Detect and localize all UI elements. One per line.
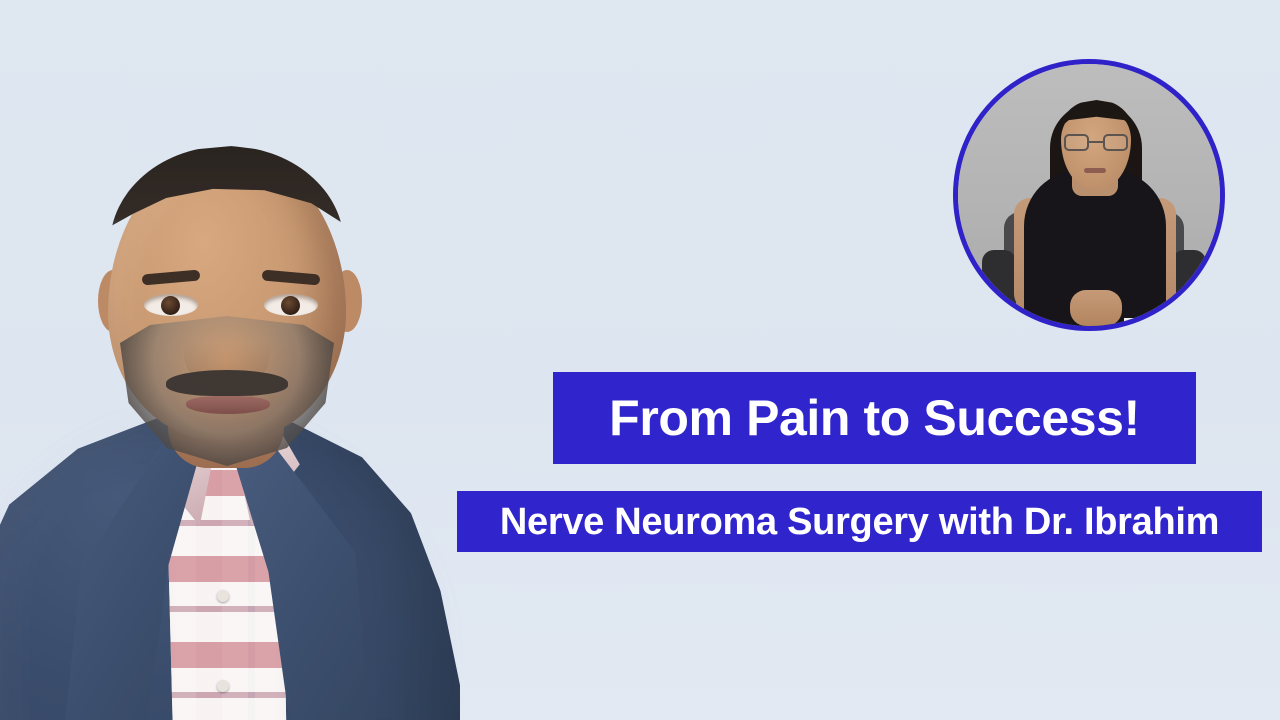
subtitle-text: Nerve Neuroma Surgery with Dr. Ibrahim	[500, 503, 1219, 541]
chair-armrest-right	[1172, 250, 1206, 331]
presenter-mouth	[186, 396, 270, 414]
title-text: From Pain to Success!	[609, 393, 1140, 443]
guest-hands	[1070, 290, 1122, 326]
subtitle-banner: Nerve Neuroma Surgery with Dr. Ibrahim	[457, 491, 1262, 552]
video-thumbnail: From Pain to Success! Nerve Neuroma Surg…	[0, 0, 1280, 720]
guest-glasses-icon	[1062, 134, 1130, 152]
title-banner: From Pain to Success!	[553, 372, 1196, 464]
guest-mouth	[1084, 168, 1106, 173]
shirt-buttons	[217, 590, 231, 720]
presenter-eye-right	[264, 294, 318, 316]
guest-photo	[958, 64, 1220, 326]
chair-armrest-left	[982, 250, 1016, 331]
presenter-moustache	[166, 370, 288, 396]
guest-inset-circle	[953, 59, 1225, 331]
presenter-portrait	[0, 120, 490, 720]
